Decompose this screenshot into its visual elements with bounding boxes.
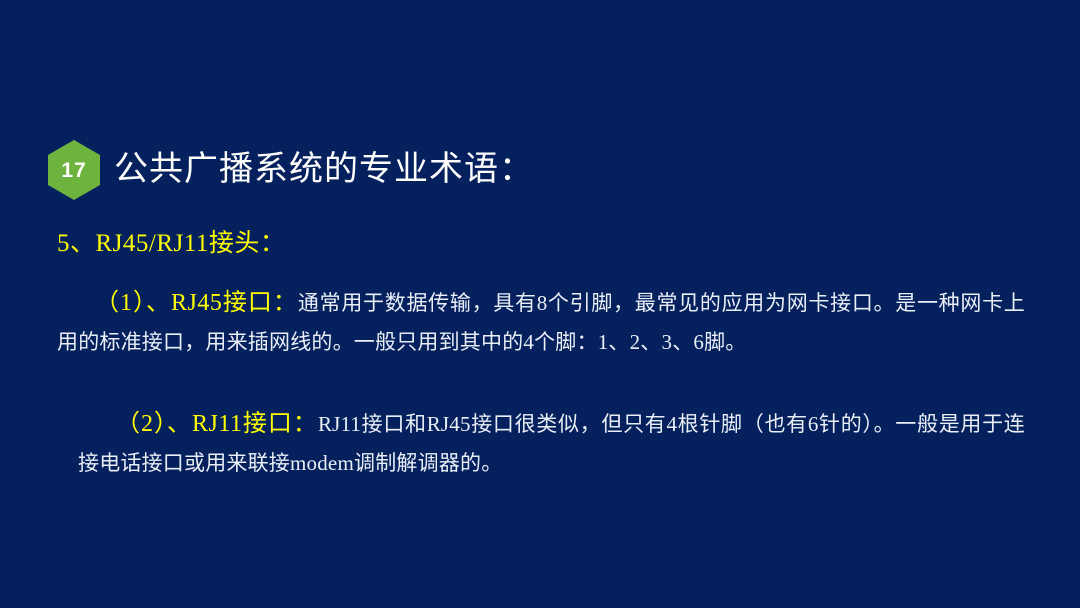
paragraph-label-rj45: （1）、RJ45接口：: [95, 290, 298, 316]
slide-canvas: 17 公共广播系统的专业术语： 5、RJ45/RJ11接头： （1）、RJ45接…: [0, 0, 1080, 608]
slide-content: 5、RJ45/RJ11接头： （1）、RJ45接口：通常用于数据传输，具有8个引…: [57, 228, 1025, 481]
badge-number: 17: [61, 160, 86, 181]
section-heading: 5、RJ45/RJ11接头：: [57, 228, 1025, 261]
paragraph-rj45: （1）、RJ45接口：通常用于数据传输，具有8个引脚，最常见的应用为网卡接口。是…: [57, 283, 1025, 360]
page-title: 公共广播系统的专业术语：: [114, 153, 534, 187]
paragraph-label-rj11: （2）、RJ11接口：: [116, 411, 318, 437]
hexagon-badge-icon: 17: [48, 140, 100, 200]
slide-title-row: 17 公共广播系统的专业术语：: [48, 140, 534, 200]
paragraph-rj11: （2）、RJ11接口：RJ11接口和RJ45接口很类似，但只有4根针脚（也有6针…: [57, 404, 1025, 481]
